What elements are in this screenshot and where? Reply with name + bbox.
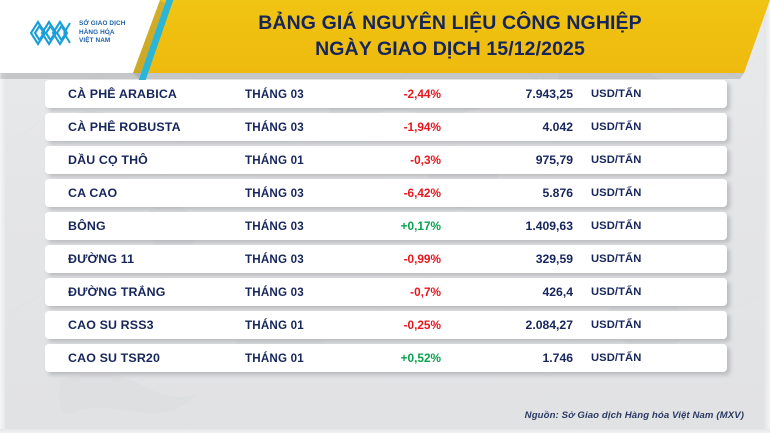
table-row-card[interactable]: CÀ PHÊ ARABICATHÁNG 03-2,44%7.943,25USD/…	[45, 80, 727, 108]
page-title: BẢNG GIÁ NGUYÊN LIỆU CÔNG NGHIỆP NGÀY GI…	[170, 10, 730, 62]
table-row[interactable]: CÀ PHÊ ARABICATHÁNG 03-2,44%7.943,25USD/…	[45, 80, 727, 113]
price-value: 4.042	[465, 120, 573, 134]
trademark-symbol: ™	[107, 33, 112, 38]
change-percent: -0,3%	[345, 153, 441, 167]
change-percent: -2,44%	[345, 87, 441, 101]
title-line-2: NGÀY GIAO DỊCH 15/12/2025	[170, 36, 730, 62]
contract-month: THÁNG 01	[245, 154, 304, 167]
contract-month: THÁNG 03	[245, 121, 304, 134]
table-row[interactable]: CA CAOTHÁNG 03-6,42%5.876USD/TẤN	[45, 179, 727, 212]
table-row-card[interactable]: CAO SU TSR20THÁNG 01+0,52%1.746USD/TẤN	[45, 344, 727, 372]
table-row-card[interactable]: ĐƯỜNG 11THÁNG 03-0,99%329,59USD/TẤN	[45, 245, 727, 273]
price-unit: USD/TẤN	[591, 286, 641, 298]
commodity-name: CÀ PHÊ ROBUSTA	[68, 120, 181, 134]
price-value: 975,79	[465, 153, 573, 167]
commodity-name: CAO SU TSR20	[68, 351, 160, 365]
table-row[interactable]: BÔNGTHÁNG 03+0,17%1.409,63USD/TẤN	[45, 212, 727, 245]
price-value: 7.943,25	[465, 87, 573, 101]
table-row[interactable]: DẦU CỌ THÔTHÁNG 01-0,3%975,79USD/TẤN	[45, 146, 727, 179]
table-row-card[interactable]: CAO SU RSS3THÁNG 01-0,25%2.084,27USD/TẤN	[45, 311, 727, 339]
price-unit: USD/TẤN	[591, 121, 641, 133]
contract-month: THÁNG 03	[245, 253, 304, 266]
table-row[interactable]: ĐƯỜNG 11THÁNG 03-0,99%329,59USD/TẤN	[45, 245, 727, 278]
change-percent: -0,7%	[345, 285, 441, 299]
commodity-name: DẦU CỌ THÔ	[68, 153, 148, 167]
contract-month: THÁNG 01	[245, 319, 304, 332]
change-percent: +0,17%	[345, 219, 441, 233]
commodity-name: CA CAO	[68, 186, 117, 200]
price-value: 426,4	[465, 285, 573, 299]
table-row-card[interactable]: CA CAOTHÁNG 03-6,42%5.876USD/TẤN	[45, 179, 727, 207]
logo-line-3: VIỆT NAM	[79, 37, 125, 46]
change-percent: +0,52%	[345, 351, 441, 365]
price-value: 5.876	[465, 186, 573, 200]
table-row[interactable]: ĐƯỜNG TRẮNGTHÁNG 03-0,7%426,4USD/TẤN	[45, 278, 727, 311]
price-unit: USD/TẤN	[591, 253, 641, 265]
table-row-card[interactable]: DẦU CỌ THÔTHÁNG 01-0,3%975,79USD/TẤN	[45, 146, 727, 174]
contract-month: THÁNG 01	[245, 352, 304, 365]
commodity-name: ĐƯỜNG TRẮNG	[68, 285, 166, 299]
logo[interactable]: SỞ GIAO DỊCH HÀNG HÓA VIỆT NAM ™	[28, 17, 125, 49]
change-percent: -6,42%	[345, 186, 441, 200]
contract-month: THÁNG 03	[245, 220, 304, 233]
contract-month: THÁNG 03	[245, 88, 304, 101]
price-unit: USD/TẤN	[591, 352, 641, 364]
price-value: 329,59	[465, 252, 573, 266]
price-unit: USD/TẤN	[591, 319, 641, 331]
change-percent: -0,25%	[345, 318, 441, 332]
price-unit: USD/TẤN	[591, 187, 641, 199]
change-percent: -1,94%	[345, 120, 441, 134]
table-row-card[interactable]: ĐƯỜNG TRẮNGTHÁNG 03-0,7%426,4USD/TẤN	[45, 278, 727, 306]
logo-line-2: HÀNG HÓA	[79, 29, 125, 38]
change-percent: -0,99%	[345, 252, 441, 266]
contract-month: THÁNG 03	[245, 286, 304, 299]
commodity-price-board: SỞ GIAO DỊCH HÀNG HÓA VIỆT NAM ™ BẢNG GI…	[0, 0, 770, 433]
price-table-body: CÀ PHÊ ARABICATHÁNG 03-2,44%7.943,25USD/…	[0, 80, 770, 388]
price-value: 2.084,27	[465, 318, 573, 332]
contract-month: THÁNG 03	[245, 187, 304, 200]
bottom-edge-highlight	[0, 429, 770, 433]
commodity-name: CÀ PHÊ ARABICA	[68, 87, 177, 101]
logo-wordmark: SỞ GIAO DỊCH HÀNG HÓA VIỆT NAM	[79, 20, 125, 46]
commodity-name: ĐƯỜNG 11	[68, 252, 134, 266]
header-banner: SỞ GIAO DỊCH HÀNG HÓA VIỆT NAM ™ BẢNG GI…	[0, 0, 770, 80]
commodity-name: BÔNG	[68, 219, 106, 233]
price-unit: USD/TẤN	[591, 154, 641, 166]
table-row-card[interactable]: CÀ PHÊ ROBUSTATHÁNG 03-1,94%4.042USD/TẤN	[45, 113, 727, 141]
commodity-name: CAO SU RSS3	[68, 318, 154, 332]
title-line-1: BẢNG GIÁ NGUYÊN LIỆU CÔNG NGHIỆP	[170, 10, 730, 36]
source-note: Nguồn: Sở Giao dịch Hàng hóa Việt Nam (M…	[525, 410, 744, 421]
logo-line-1: SỞ GIAO DỊCH	[79, 20, 125, 29]
mxv-maze-logo-icon	[28, 17, 74, 49]
price-value: 1.409,63	[465, 219, 573, 233]
table-row[interactable]: CÀ PHÊ ROBUSTATHÁNG 03-1,94%4.042USD/TẤN	[45, 113, 727, 146]
table-row-card[interactable]: BÔNGTHÁNG 03+0,17%1.409,63USD/TẤN	[45, 212, 727, 240]
price-table: CÀ PHÊ ARABICATHÁNG 03-2,44%7.943,25USD/…	[0, 80, 770, 388]
price-unit: USD/TẤN	[591, 220, 641, 232]
table-row[interactable]: CAO SU RSS3THÁNG 01-0,25%2.084,27USD/TẤN	[45, 311, 727, 344]
price-value: 1.746	[465, 351, 573, 365]
price-unit: USD/TẤN	[591, 88, 641, 100]
table-row[interactable]: CAO SU TSR20THÁNG 01+0,52%1.746USD/TẤN	[45, 344, 727, 377]
